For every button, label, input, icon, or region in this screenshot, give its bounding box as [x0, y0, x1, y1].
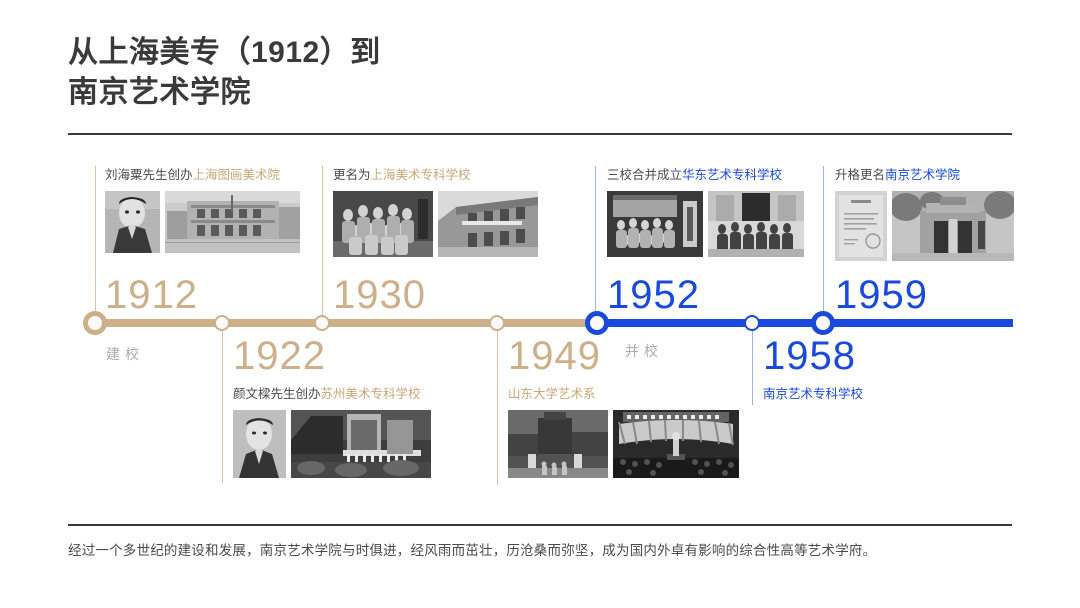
entry-caption-1922: 颜文樑先生创办苏州美术专科学校: [233, 386, 431, 404]
timeline-marker-1958[interactable]: [744, 315, 760, 331]
entry-caption-highlight-1952: 华东艺术专科学校: [682, 168, 782, 182]
entry-caption-plain-1959: 升格更名: [835, 168, 885, 182]
photo-svg: [835, 191, 887, 261]
photo-svg: [165, 191, 300, 253]
photo-building-shanghai-academy: [165, 191, 300, 253]
photo-gate-nanjing: [892, 191, 1014, 261]
connector-stem-1930: [322, 166, 323, 323]
entry-caption-1952: 三校合并成立华东艺术专科学校: [607, 167, 804, 185]
timeline-marker-1912[interactable]: [83, 311, 107, 335]
connector-stem-1922: [222, 323, 223, 483]
entry-caption-1959: 升格更名南京艺术学院: [835, 167, 1014, 185]
photo-assembly-stage: [613, 410, 739, 478]
timeline-marker-1922[interactable]: [214, 315, 230, 331]
photo-building-1930: [438, 191, 538, 257]
entry-caption-plain-1922: 颜文樑先生创办: [233, 387, 321, 401]
timeline-entry-1922[interactable]: 1922 颜文樑先生创办苏州美术专科学校: [233, 336, 431, 478]
entry-caption-plain-1912: 刘海粟先生创办: [105, 168, 193, 182]
entry-year-1922: 1922: [233, 336, 431, 376]
photo-group-1952-a: [607, 191, 703, 257]
photo-svg: [291, 410, 431, 478]
header-divider: [68, 133, 1012, 135]
entry-year-1949: 1949: [508, 336, 739, 376]
axis-label-founding: 建校: [106, 344, 144, 364]
timeline-entry-1952[interactable]: 三校合并成立华东艺术专科学校: [607, 167, 804, 315]
entry-caption-highlight-1958: 南京艺术专科学校: [763, 387, 863, 401]
entry-caption-1958: 南京艺术专科学校: [763, 386, 863, 404]
timeline-entry-1949[interactable]: 1949 山东大学艺术系: [508, 336, 739, 478]
entry-year-1958: 1958: [763, 336, 863, 376]
entry-caption-1912: 刘海粟先生创办上海图画美术院: [105, 167, 300, 185]
timeline-marker-1959[interactable]: [811, 311, 835, 335]
entry-photos-1959: [835, 191, 1014, 261]
entry-caption-plain-1930: 更名为: [333, 168, 371, 182]
photo-group-students-1930: [333, 191, 433, 257]
photo-portrait-liuhaisu: [105, 191, 160, 253]
photo-shandong-campus-gate: [508, 410, 608, 478]
entry-photos-1912: [105, 191, 300, 253]
entry-caption-1949: 山东大学艺术系: [508, 386, 739, 404]
entry-photos-1949: [508, 410, 739, 478]
timeline-entry-1958[interactable]: 1958 南京艺术专科学校: [763, 336, 863, 410]
photo-document-1959: [835, 191, 887, 261]
timeline-marker-1949[interactable]: [489, 315, 505, 331]
photo-svg: [607, 191, 703, 257]
photo-group-1952-b: [708, 191, 804, 257]
footer-divider: [68, 524, 1012, 526]
entry-caption-1930: 更名为上海美术专科学校: [333, 167, 538, 185]
entry-year-1952: 1952: [607, 275, 804, 315]
timeline-axis-tan-segment: [95, 319, 599, 327]
photo-svg: [438, 191, 538, 257]
photo-suzhou-campus: [291, 410, 431, 478]
entry-caption-highlight-1912: 上海图画美术院: [193, 168, 281, 182]
entry-caption-highlight-1959: 南京艺术学院: [885, 168, 960, 182]
photo-svg: [892, 191, 1014, 261]
connector-stem-1958: [752, 323, 753, 405]
photo-svg: [333, 191, 433, 257]
entry-caption-highlight-1949: 山东大学艺术系: [508, 387, 596, 401]
entry-photos-1922: [233, 410, 431, 478]
timeline-entry-1912[interactable]: 刘海粟先生创办上海图画美术院: [105, 167, 300, 315]
timeline-entry-1959[interactable]: 升格更名南京艺术学院: [835, 167, 1014, 315]
connector-stem-1912: [95, 166, 96, 323]
footer-description: 经过一个多世纪的建设和发展，南京艺术学院与时俱进，经风雨而茁壮，历沧桑而弥坚，成…: [68, 540, 1012, 562]
entry-year-1930: 1930: [333, 275, 538, 315]
entry-caption-plain-1952: 三校合并成立: [607, 168, 682, 182]
entry-photos-1952: [607, 191, 804, 257]
page-title: 从上海美专（1912）到 南京艺术学院: [68, 33, 381, 112]
connector-stem-1952: [595, 166, 596, 323]
timeline-marker-1952[interactable]: [585, 311, 609, 335]
entry-year-1959: 1959: [835, 275, 1014, 315]
entry-photos-1930: [333, 191, 538, 257]
photo-svg: [233, 410, 286, 478]
photo-svg: [508, 410, 608, 478]
timeline-entry-1930[interactable]: 更名为上海美术专科学校: [333, 167, 538, 315]
entry-caption-highlight-1922: 苏州美术专科学校: [321, 387, 421, 401]
photo-svg: [708, 191, 804, 257]
entry-year-1912: 1912: [105, 275, 300, 315]
timeline-marker-1930[interactable]: [314, 315, 330, 331]
connector-stem-1959: [823, 166, 824, 323]
photo-portrait-yanwenliang: [233, 410, 286, 478]
timeline-axis-blue-segment: [595, 319, 1013, 327]
photo-svg: [613, 410, 739, 478]
connector-stem-1949: [497, 323, 498, 485]
photo-svg: [105, 191, 160, 253]
entry-caption-highlight-1930: 上海美术专科学校: [371, 168, 471, 182]
